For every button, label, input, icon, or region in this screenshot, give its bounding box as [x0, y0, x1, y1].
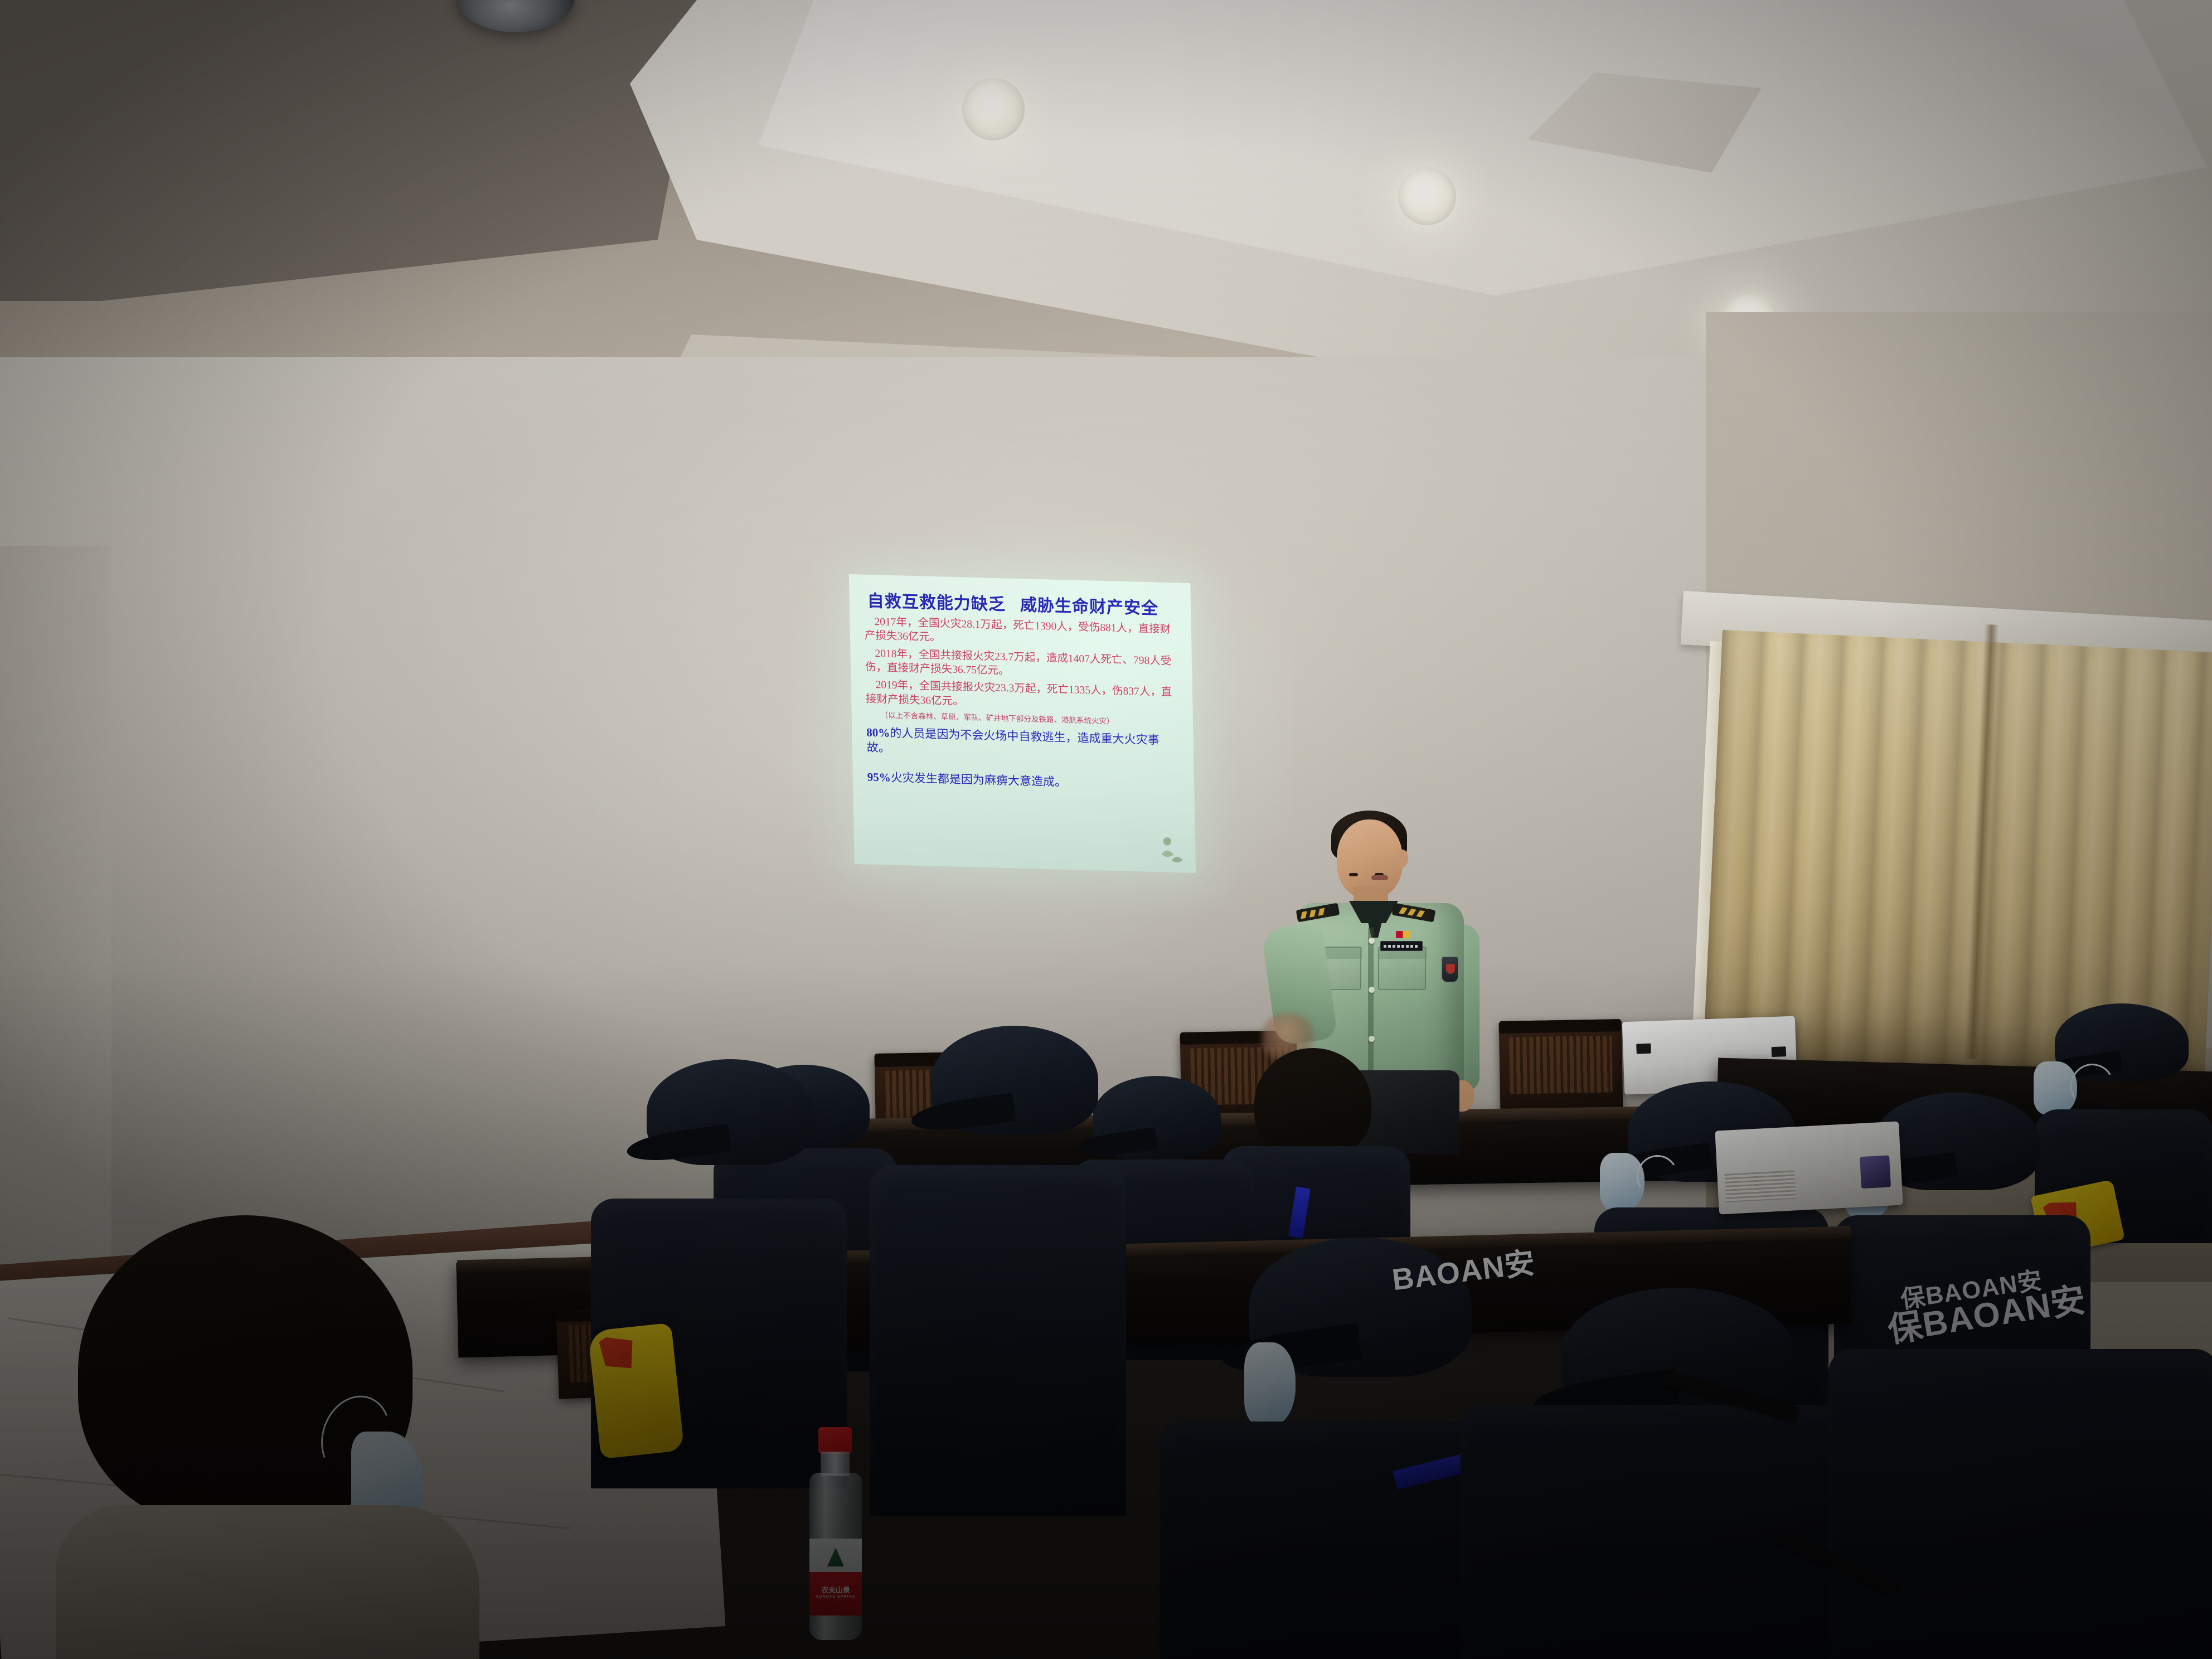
projector — [1715, 1121, 1903, 1214]
shirt — [56, 1505, 479, 1659]
torso — [1828, 1349, 2212, 1659]
bottle-brand-latin: NONGFU SPRING — [803, 1595, 869, 1599]
downlight-icon-2 — [1398, 167, 1456, 225]
presenter-flag-pin-icon — [1396, 931, 1410, 938]
presenter-mouth — [1371, 875, 1388, 880]
slide-footnote: （以上不含森林、草原、军队、矿井地下部分及铁路、港航系统火灾） — [881, 711, 1181, 727]
presenter-name-tag — [1380, 941, 1423, 951]
projection-screen: 自救互救能力缺乏 威胁生命财产安全 2017年，全国火灾28.1万起，死亡139… — [849, 574, 1196, 873]
slide-highlight-1-text: 的人员是因为不会火场中自救逃生，造成重大火灾事故。 — [867, 726, 1160, 755]
downlight-icon-1 — [962, 78, 1025, 140]
face-mask-icon — [1244, 1342, 1296, 1426]
slide-highlight-2-text: 火灾发生都是因为麻痹大意造成。 — [891, 771, 1067, 789]
slide-title-right: 威胁生命财产安全 — [1020, 591, 1158, 619]
slide-paragraph-2018: 2018年，全国共接报火灾23.7万起，造成1407人死亡、798人受伤，直接财… — [865, 646, 1180, 682]
cap-icon — [2055, 1003, 2189, 1081]
attendee-front-left — [591, 1059, 847, 1483]
water-bottle[interactable]: 农夫山泉 NONGFU SPRING — [803, 1427, 869, 1650]
bottle-brand-name: 农夫山泉 NONGFU SPRING — [803, 1584, 869, 1599]
slide-highlight-1: 80%的人员是因为不会火场中自救逃生，造成重大火灾事故。 — [866, 725, 1181, 764]
presenter-ear — [1397, 850, 1408, 867]
attendee-foreground — [56, 1215, 479, 1659]
slide-title: 自救互救能力缺乏 威胁生命财产安全 — [867, 587, 1178, 620]
cap-icon — [647, 1059, 814, 1165]
cap-icon — [931, 1026, 1098, 1134]
slide-watermark-logo-icon — [1156, 834, 1187, 865]
presenter-shoulder-patch-icon — [1442, 957, 1458, 982]
torso — [870, 1165, 1126, 1516]
slide-highlight-2-pct: 95% — [867, 770, 891, 784]
presenter-pocket-right — [1378, 947, 1426, 990]
slide-highlight-2: 95%火灾发生都是因为麻痹大意造成。 — [867, 770, 1182, 793]
meeting-room-photo: 自救互救能力缺乏 威胁生命财产安全 2017年，全国火灾28.1万起，死亡139… — [0, 0, 2212, 1659]
slide-paragraph-2017: 2017年，全国火灾28.1万起，死亡1390人，受伤881人，直接财产损失36… — [864, 615, 1179, 651]
bottle-brand-cn: 农夫山泉 — [821, 1586, 850, 1594]
attendee-front-far-right: 保BAOAN安 — [1828, 1282, 2212, 1659]
attendee-front-right — [1461, 1288, 1851, 1659]
armband — [588, 1323, 684, 1459]
bottle-cap — [818, 1427, 852, 1454]
uniform-back-text-right: 保BAOAN安 — [1884, 1272, 2089, 1352]
slide-title-left: 自救互救能力缺乏 — [867, 587, 1006, 615]
slide-highlight-1-pct: 80% — [866, 726, 890, 740]
torso — [1461, 1405, 1851, 1659]
slide-body: 2017年，全国火灾28.1万起，死亡1390人，受伤881人，直接财产损失36… — [864, 615, 1181, 715]
attendee-front-center-left — [870, 1026, 1126, 1516]
slide-paragraph-2019: 2019年，全国共接报火灾23.3万起，死亡1335人，伤837人，直接财产损失… — [865, 678, 1180, 714]
head — [1254, 1048, 1371, 1160]
